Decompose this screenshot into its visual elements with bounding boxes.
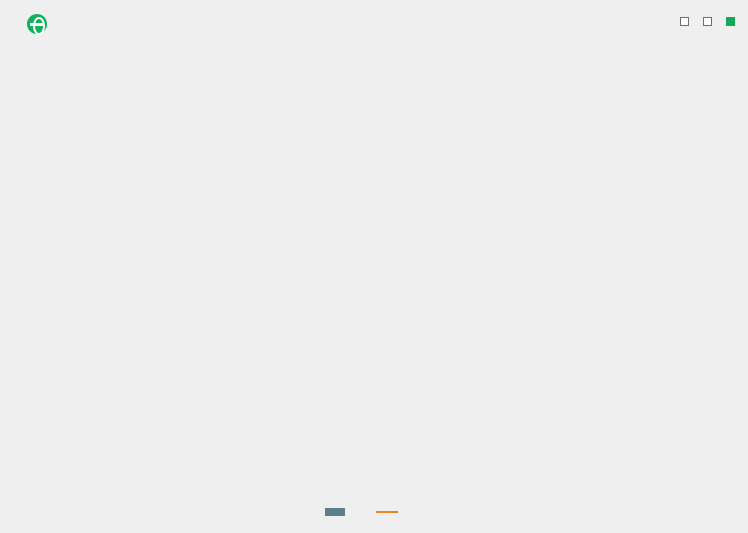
- forex-logo: [26, 14, 50, 34]
- legend-swatch-pct-of-atr-icon: [325, 508, 345, 516]
- legend-swatch-low-icon: [703, 17, 712, 26]
- atr-plot-area: [22, 340, 684, 441]
- candles-x-axis: [22, 240, 684, 298]
- candles-plot-area: [22, 50, 684, 226]
- logo-currency-circle-icon: [27, 14, 47, 34]
- legend-item-pct-of-atr[interactable]: [325, 508, 350, 516]
- legend-swatch-atr-icon: [376, 511, 398, 514]
- atr-x-axis: [22, 444, 684, 502]
- legend-item-low[interactable]: [703, 17, 715, 26]
- legend-item-close[interactable]: [726, 17, 738, 26]
- legend-swatch-close-icon: [726, 17, 735, 26]
- legend-item-atr[interactable]: [376, 511, 403, 514]
- legend-item-high[interactable]: [680, 17, 692, 26]
- candles-series: [22, 50, 684, 226]
- legend-swatch-high-icon: [680, 17, 689, 26]
- top-chart-legend: [680, 17, 738, 26]
- atr-series: [22, 340, 684, 441]
- bottom-chart-legend: [0, 508, 748, 516]
- chart-page: [0, 0, 748, 533]
